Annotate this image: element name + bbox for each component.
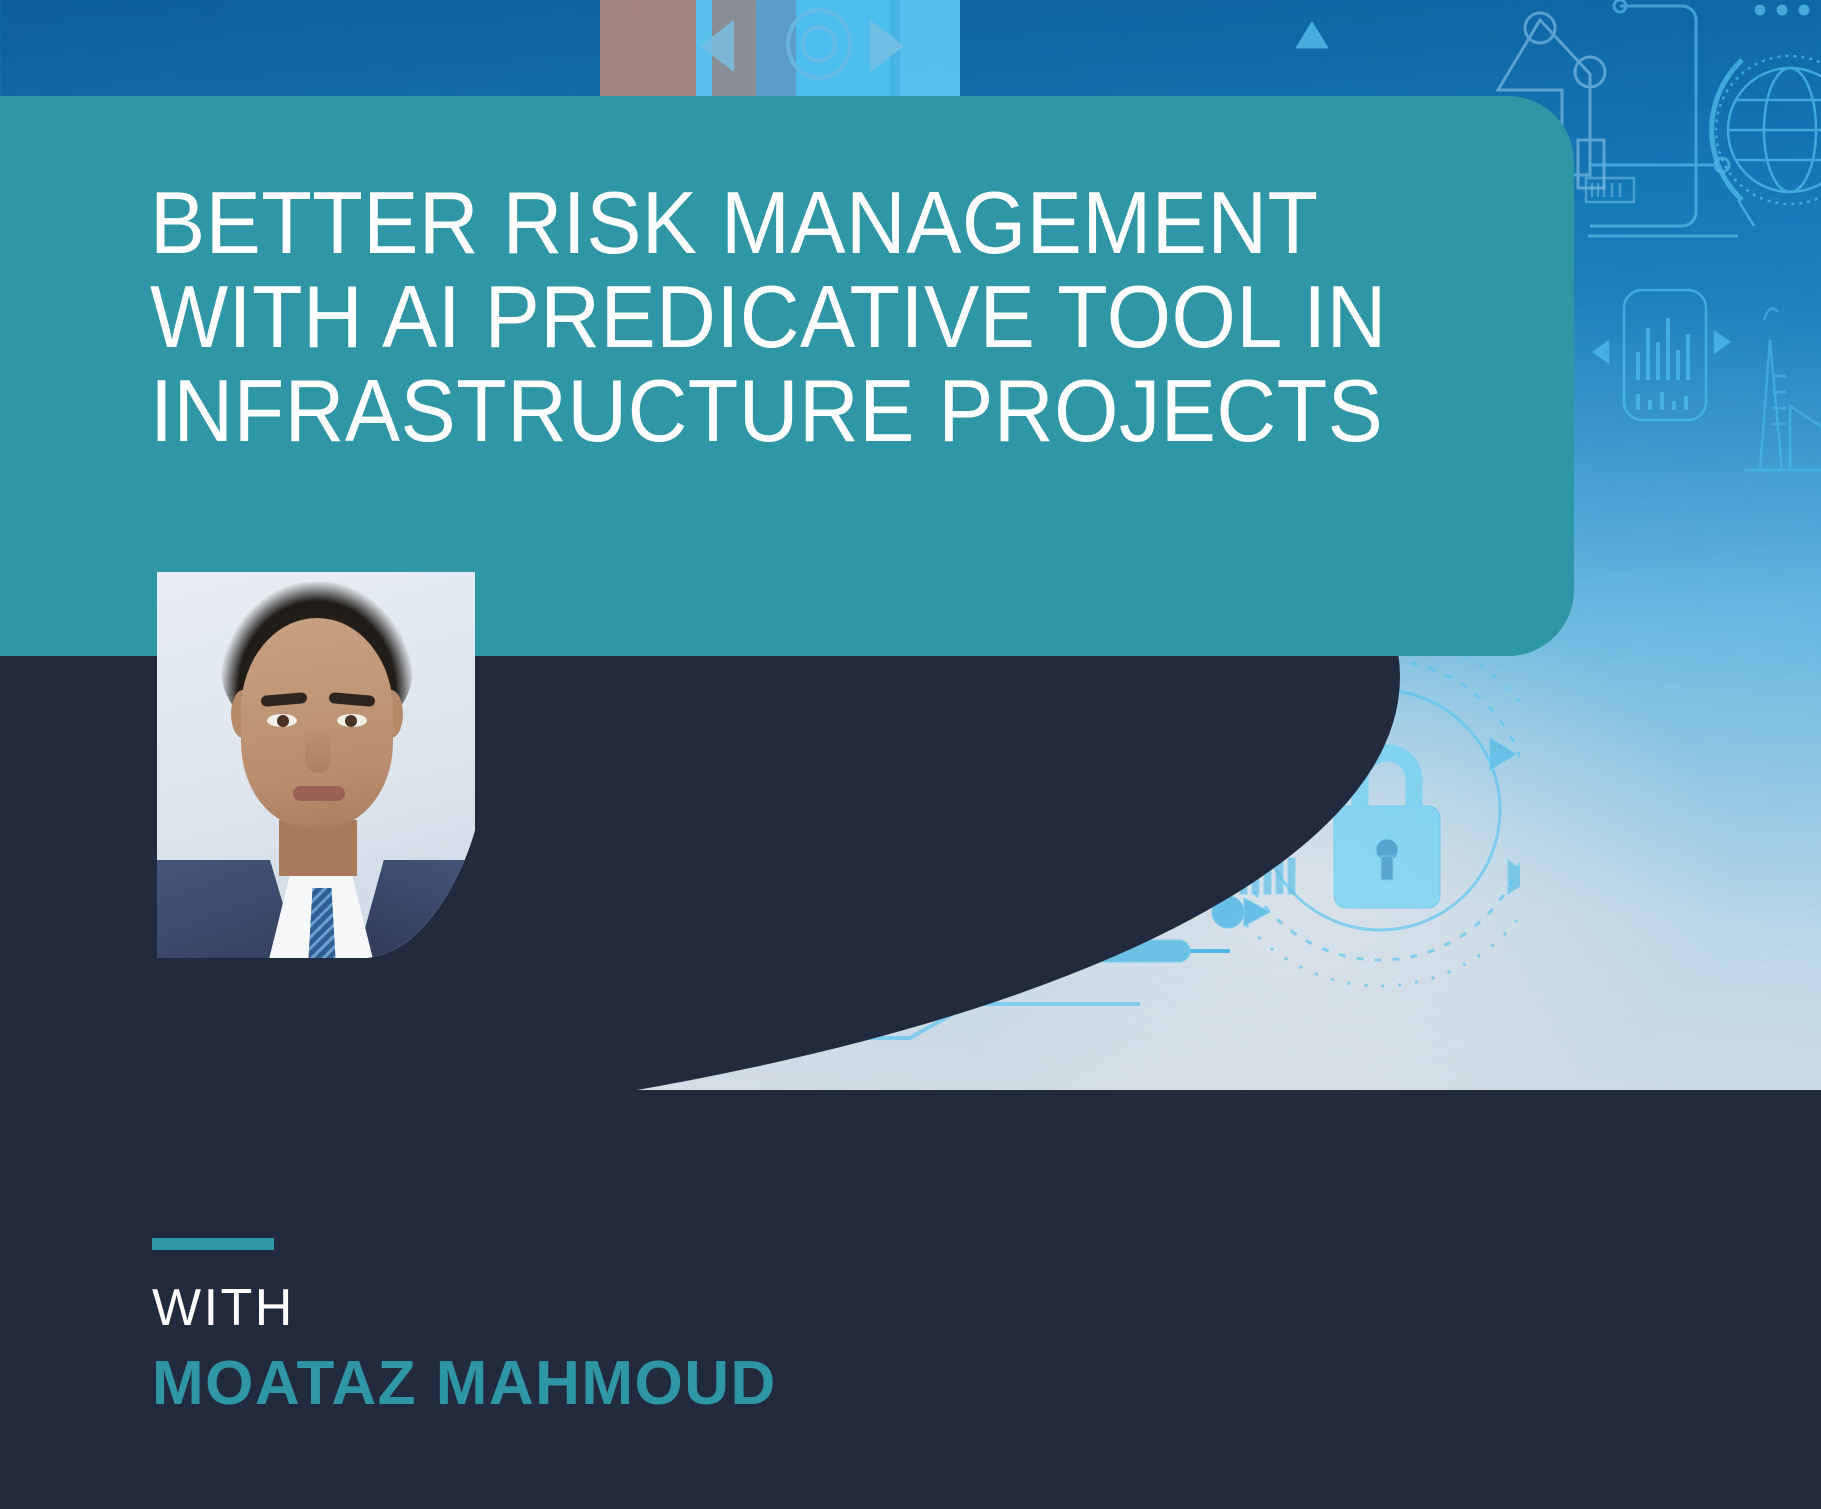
triangle-marker: [1296, 22, 1328, 48]
with-label: WITH: [152, 1278, 295, 1338]
rewind-icon: [700, 20, 734, 72]
neck: [279, 820, 357, 876]
speaker-portrait: [157, 572, 475, 958]
factory-icon: [1745, 308, 1821, 470]
play-icon: [870, 20, 904, 72]
title-line-1: BETTER RISK MANAGEMENT: [150, 176, 1423, 270]
nose: [305, 727, 331, 773]
title-line-3: INFRASTRUCTURE PROJECTS: [150, 364, 1423, 458]
dot-row: [1755, 5, 1809, 15]
barcode-panel-icon: [1586, 178, 1634, 202]
speaker-name: MOATAZ MAHMOUD: [152, 1348, 777, 1419]
page-title: BETTER RISK MANAGEMENT WITH AI PREDICATI…: [150, 176, 1423, 458]
bar-chart-panel-icon: [1594, 290, 1729, 420]
mouth: [293, 786, 345, 801]
circuit-lines: [1588, 0, 1738, 236]
globe-hud-icon: [1712, 56, 1821, 226]
webinar-title-card: BETTER RISK MANAGEMENT WITH AI PREDICATI…: [0, 0, 1821, 1509]
pupil-right: [345, 715, 357, 727]
pupil-left: [277, 715, 289, 727]
triangle-marker: [1490, 738, 1516, 770]
accent-bar: [152, 1238, 274, 1250]
record-icon: [786, 8, 852, 80]
title-line-2: WITH AI PREDICATIVE TOOL IN: [150, 270, 1423, 364]
media-player-strip: [600, 0, 960, 98]
